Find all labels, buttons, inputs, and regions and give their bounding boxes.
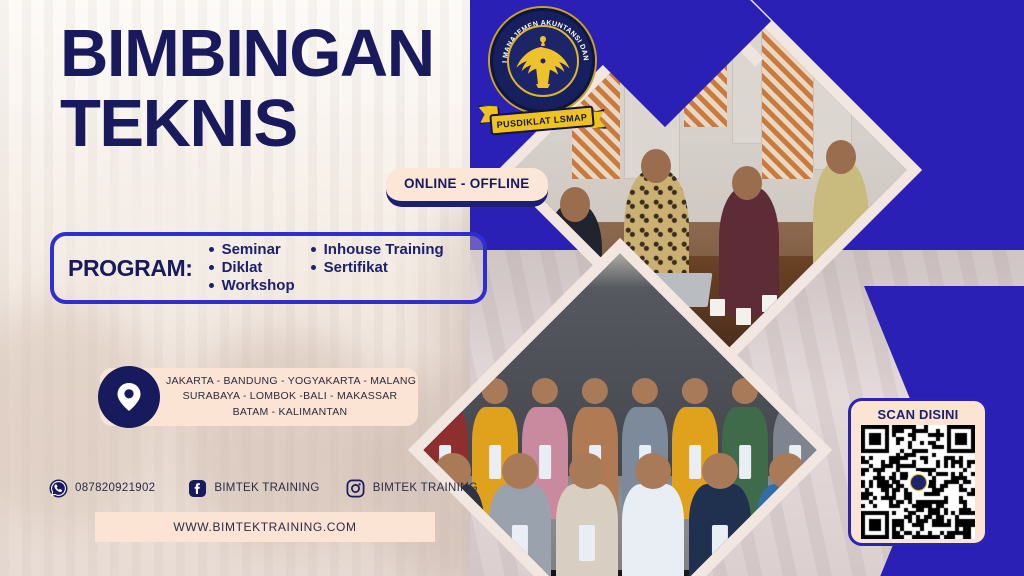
contact-facebook[interactable]: BIMTEK TRAINING [187,478,319,498]
location-line: JAKARTA - BANDUNG - YOGYAKARTA - MALANG [166,374,414,390]
promotional-banner: LEMBAGA STUDI MANAJEMEN AKUNTANSI DAN PE… [0,0,1024,576]
program-list-right: Inhouse Training Sertifikat [309,241,444,296]
mode-badge-label: ONLINE - OFFLINE [404,176,530,191]
ribbon-text: PUSDIKLAT LSMAP [496,112,587,130]
instagram-icon [346,478,366,498]
logo-ring: LEMBAGA STUDI MANAJEMEN AKUNTANSI DAN PE… [490,8,595,113]
list-item: Inhouse Training [309,241,444,259]
contact-row: 087820921902 BIMTEK TRAINING BIMTEK [48,478,478,498]
location-line: BATAM - KALIMANTAN [166,405,414,421]
list-item: Workshop [207,277,295,295]
qr-panel[interactable]: SCAN DISINI [848,398,988,546]
program-label: PROGRAM: [68,255,193,282]
location-line: SURABAYA - LOMBOK -BALI - MAKASSAR [166,389,414,405]
whatsapp-icon [48,478,68,498]
garuda-emblem-icon [507,25,579,97]
program-box: PROGRAM: Seminar Diklat Workshop Inhouse… [50,232,487,304]
garuda-icon [512,32,574,90]
headline-line-1: BIMBINGAN [60,22,434,86]
qr-title: SCAN DISINI [878,407,959,422]
headline-line-2: TEKNIS [60,92,434,156]
qr-center-logo-icon [907,471,929,493]
list-item: Sertifikat [309,259,444,277]
contact-instagram[interactable]: BIMTEK TRAINING [346,478,478,498]
contact-whatsapp[interactable]: 087820921902 [48,478,155,498]
contact-instagram-label: BIMTEK TRAINING [373,482,478,494]
website-bar[interactable]: WWW.BIMTEKTRAINING.COM [95,512,435,542]
pin-glyph [116,382,142,412]
ribbon-band: PUSDIKLAT LSMAP [489,106,594,136]
page-title: BIMBINGAN TEKNIS [60,22,434,155]
website-url: WWW.BIMTEKTRAINING.COM [173,520,356,534]
qr-code[interactable] [861,425,975,539]
pusdiklat-lsmap-logo: LEMBAGA STUDI MANAJEMEN AKUNTANSI DAN PE… [478,8,606,143]
location-pin-icon [98,366,160,428]
facebook-icon [187,478,207,498]
contact-facebook-label: BIMTEK TRAINING [214,482,319,494]
list-item: Diklat [207,259,295,277]
locations-pill: JAKARTA - BANDUNG - YOGYAKARTA - MALANG … [100,368,418,426]
program-list-left: Seminar Diklat Workshop [207,241,295,296]
contact-whatsapp-label: 087820921902 [75,482,155,494]
list-item: Seminar [207,241,295,259]
mode-badge: ONLINE - OFFLINE [386,168,548,205]
logo-ribbon: PUSDIKLAT LSMAP [478,100,606,140]
